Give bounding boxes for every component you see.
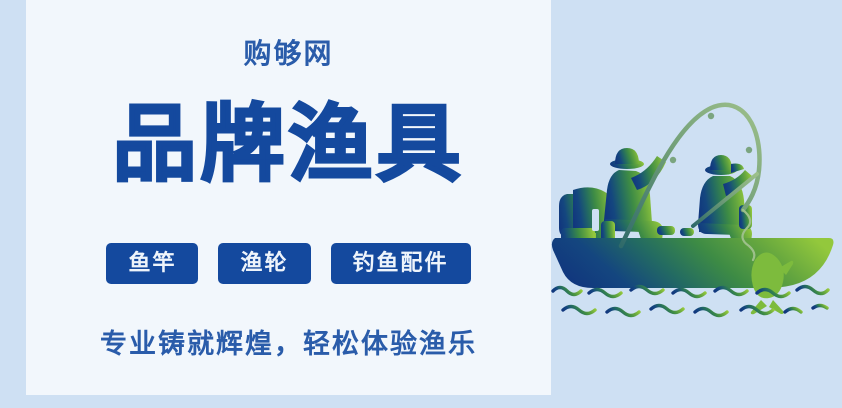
brand-name: 购够网 (26, 40, 551, 68)
boat-group (552, 148, 834, 288)
content-panel: 购够网 品牌渔具 鱼竿 渔轮 钓鱼配件 专业铸就辉煌，轻松体验渔乐 (26, 0, 551, 395)
category-tag-reel[interactable]: 渔轮 (218, 243, 310, 284)
deck-fitting (657, 226, 675, 235)
category-tag-rod[interactable]: 鱼竿 (106, 243, 198, 284)
category-tag-accessories[interactable]: 钓鱼配件 (331, 243, 471, 284)
promo-banner: 购够网 品牌渔具 鱼竿 渔轮 钓鱼配件 专业铸就辉煌，轻松体验渔乐 (0, 0, 842, 408)
category-tag-row: 鱼竿 渔轮 钓鱼配件 (26, 243, 551, 284)
deck-fitting (680, 228, 694, 236)
angler-back-icon (601, 148, 666, 253)
fishing-boat-illustration (545, 78, 840, 333)
water-waves (553, 287, 828, 316)
tagline-text: 专业铸就辉煌，轻松体验渔乐 (26, 328, 551, 360)
headline-title: 品牌渔具 (26, 100, 551, 188)
